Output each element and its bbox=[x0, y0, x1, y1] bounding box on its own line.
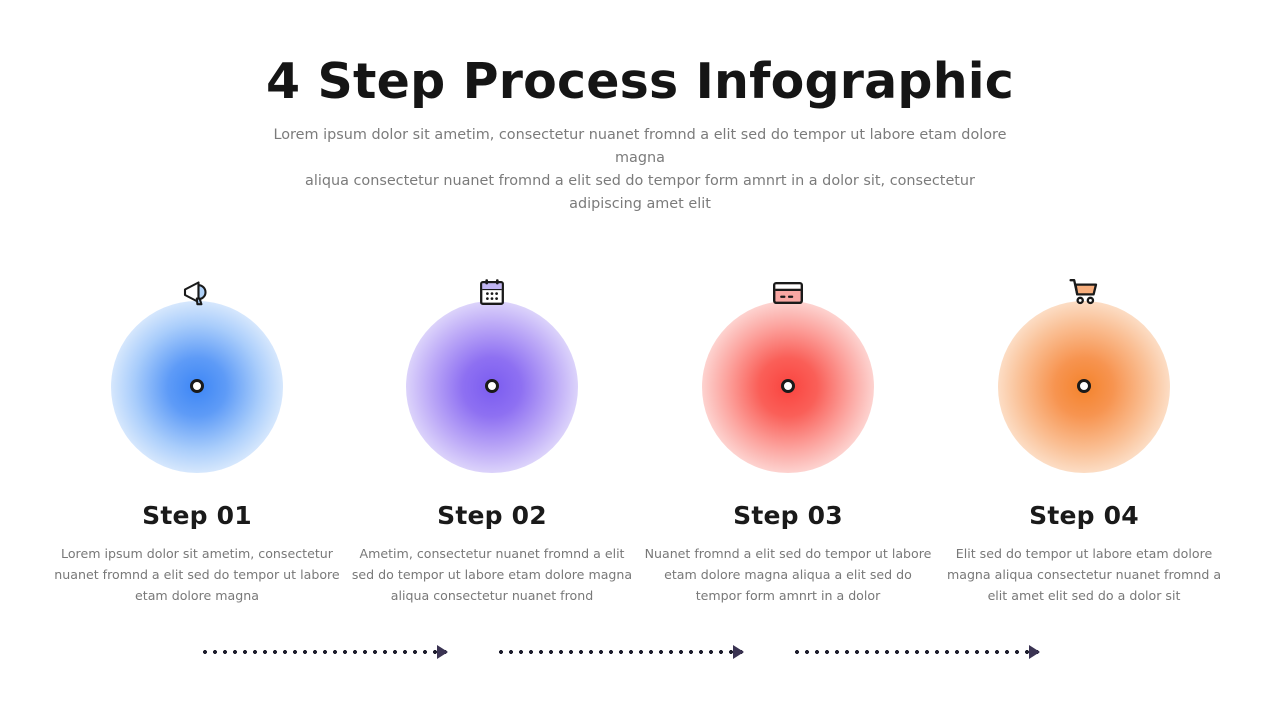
arrow-right-icon bbox=[437, 645, 448, 659]
arrow-right-icon bbox=[1029, 645, 1040, 659]
step-description: Elit sed do tempor ut labore etam dolore… bbox=[939, 544, 1229, 606]
page-header: 4 Step Process Infographic Lorem ipsum d… bbox=[0, 52, 1280, 216]
step-description: Ametim, consectetur nuanet fromnd a elit… bbox=[347, 544, 637, 606]
connector-dots bbox=[496, 650, 744, 654]
connector-dots bbox=[200, 650, 448, 654]
step-node-marker bbox=[485, 379, 499, 393]
step-item-2[interactable]: Step 02 Ametim, consectetur nuanet fromn… bbox=[344, 266, 640, 626]
step-label: Step 01 bbox=[49, 501, 345, 530]
step-label: Step 03 bbox=[640, 501, 936, 530]
steps-row: Step 01 Lorem ipsum dolor sit ametim, co… bbox=[0, 266, 1280, 626]
page-subtitle-line-1: Lorem ipsum dolor sit ametim, consectetu… bbox=[270, 124, 1010, 170]
step-description: Lorem ipsum dolor sit ametim, consectetu… bbox=[52, 544, 342, 606]
step-node-marker bbox=[190, 379, 204, 393]
page-subtitle-line-2: aliqua consectetur nuanet fromnd a elit … bbox=[270, 170, 1010, 216]
arrow-right-icon bbox=[733, 645, 744, 659]
step-label: Step 02 bbox=[344, 501, 640, 530]
connector-step3-step4 bbox=[792, 649, 1040, 655]
calendar-icon bbox=[475, 276, 509, 308]
connector-step1-step2 bbox=[200, 649, 448, 655]
step-item-4[interactable]: Step 04 Elit sed do tempor ut labore eta… bbox=[936, 266, 1232, 626]
connector-dots bbox=[792, 650, 1040, 654]
step-item-1[interactable]: Step 01 Lorem ipsum dolor sit ametim, co… bbox=[49, 266, 345, 626]
step-node-marker bbox=[781, 379, 795, 393]
step-node-marker bbox=[1077, 379, 1091, 393]
step-description: Nuanet fromnd a elit sed do tempor ut la… bbox=[643, 544, 933, 606]
page-subtitle: Lorem ipsum dolor sit ametim, consectetu… bbox=[270, 124, 1010, 216]
connector-step2-step3 bbox=[496, 649, 744, 655]
step-item-3[interactable]: Step 03 Nuanet fromnd a elit sed do temp… bbox=[640, 266, 936, 626]
credit-card-icon bbox=[771, 276, 805, 308]
megaphone-icon bbox=[180, 276, 214, 308]
step-label: Step 04 bbox=[936, 501, 1232, 530]
shopping-cart-icon bbox=[1067, 276, 1101, 308]
page-title: 4 Step Process Infographic bbox=[0, 52, 1280, 112]
